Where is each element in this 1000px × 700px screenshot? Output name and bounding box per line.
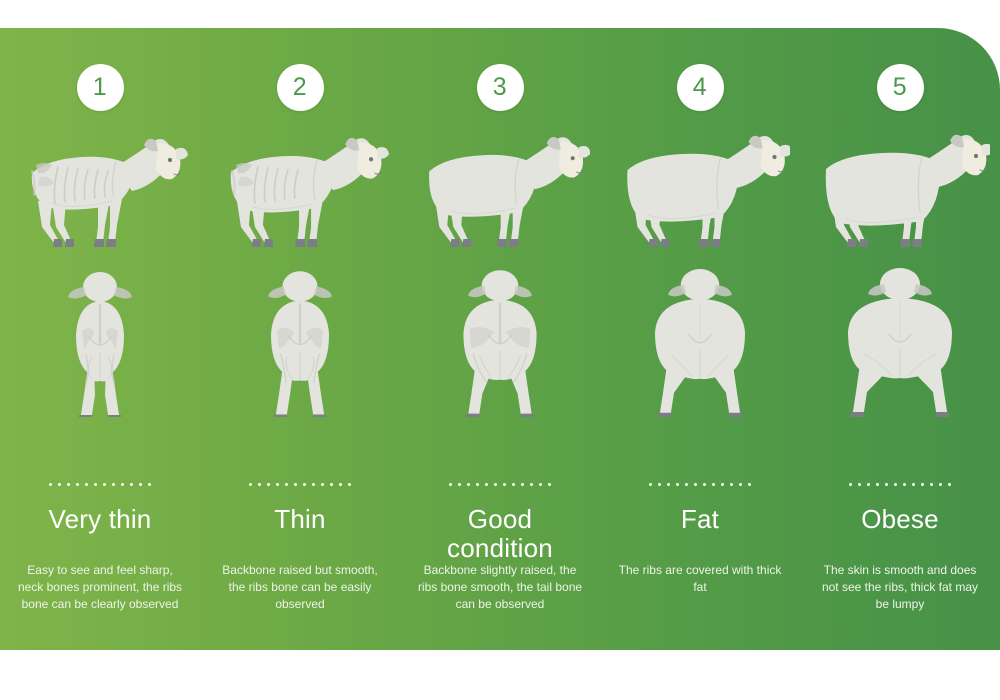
sheep-rear-view-obese-icon xyxy=(825,265,975,417)
score-badge-4[interactable]: 4 xyxy=(677,64,724,111)
dotted-divider xyxy=(449,479,551,489)
dotted-divider xyxy=(849,479,951,489)
score-badge-1[interactable]: 1 xyxy=(77,64,124,111)
sheep-side-view-wrapper-2 xyxy=(210,131,390,253)
score-badge-3[interactable]: 3 xyxy=(477,64,524,111)
dotted-divider xyxy=(249,479,351,489)
sheep-rear-view-wrapper-4 xyxy=(625,265,775,417)
sheep-side-view-fat-icon xyxy=(610,131,790,253)
condition-description: The skin is smooth and does not see the … xyxy=(810,562,990,613)
score-badge-number: 4 xyxy=(693,75,707,100)
condition-description: Backbone slightly raised, the ribs bone … xyxy=(410,562,590,613)
score-badge-number: 1 xyxy=(93,75,107,100)
score-badge-number: 3 xyxy=(493,75,507,100)
sheep-rear-view-wrapper-5 xyxy=(825,265,975,417)
score-column-3: 3 xyxy=(400,28,600,650)
score-badge-5[interactable]: 5 xyxy=(877,64,924,111)
sheep-side-view-wrapper-3 xyxy=(410,131,590,253)
dotted-divider xyxy=(49,479,151,489)
sheep-side-view-obese-icon xyxy=(810,131,990,253)
sheep-rear-view-thin-icon xyxy=(225,265,375,417)
score-column-4: 4 xyxy=(600,28,800,650)
dotted-divider xyxy=(649,479,751,489)
sheep-side-view-very-thin-icon xyxy=(10,131,190,253)
condition-description: Backbone raised but smooth, the ribs bon… xyxy=(210,562,390,613)
sheep-side-view-wrapper-4 xyxy=(610,131,790,253)
score-badge-2[interactable]: 2 xyxy=(277,64,324,111)
sheep-rear-view-good-condition-icon xyxy=(425,265,575,417)
sheep-rear-view-fat-icon xyxy=(625,265,775,417)
sheep-rear-view-wrapper-3 xyxy=(425,265,575,417)
condition-name: Very thin xyxy=(49,505,152,534)
score-badge-number: 2 xyxy=(293,75,307,100)
condition-name: Fat xyxy=(681,505,719,534)
sheep-side-view-wrapper-5 xyxy=(810,131,990,253)
sheep-rear-view-wrapper-1 xyxy=(25,265,175,417)
sheep-side-view-wrapper-1 xyxy=(10,131,190,253)
score-columns: 1 xyxy=(0,28,1000,650)
sheep-rear-view-wrapper-2 xyxy=(225,265,375,417)
sheep-side-view-good-condition-icon xyxy=(410,131,590,253)
score-column-5: 5 xyxy=(800,28,1000,650)
infographic-canvas: 1 xyxy=(0,0,1000,700)
score-column-1: 1 xyxy=(0,28,200,650)
sheep-side-view-thin-icon xyxy=(210,131,390,253)
score-column-2: 2 xyxy=(200,28,400,650)
score-badge-number: 5 xyxy=(893,75,907,100)
green-panel: 1 xyxy=(0,28,1000,650)
sheep-rear-view-very-thin-icon xyxy=(25,265,175,417)
condition-description: Easy to see and feel sharp, neck bones p… xyxy=(10,562,190,613)
condition-description: The ribs are covered with thick fat xyxy=(610,562,790,596)
condition-name: Thin xyxy=(274,505,325,534)
condition-name: Obese xyxy=(861,505,939,534)
